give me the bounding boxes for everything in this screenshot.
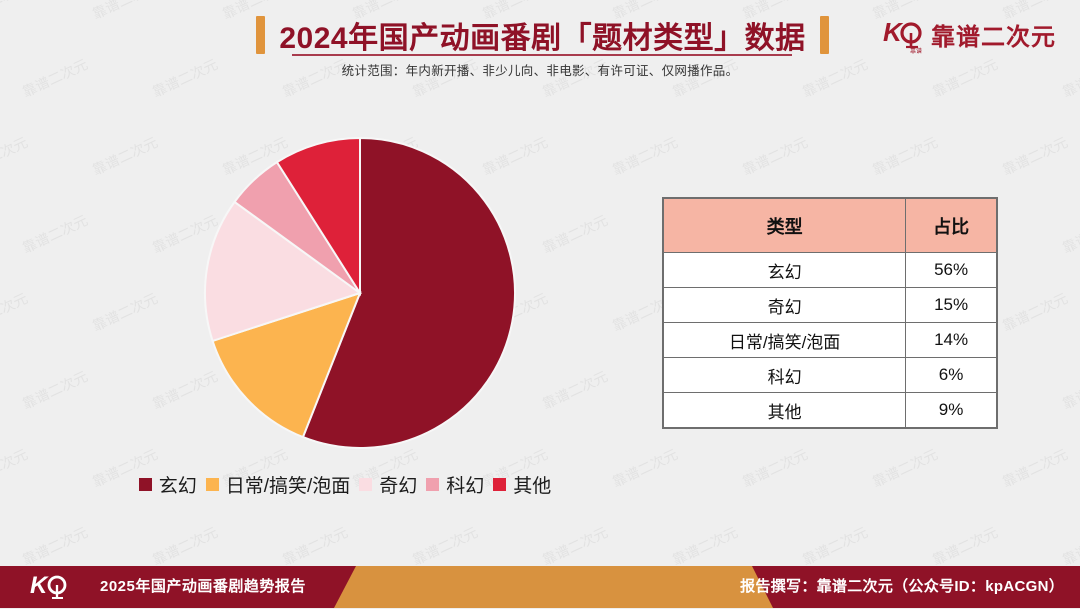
title-accent-bar-right [820, 16, 829, 54]
cell-type: 玄幻 [663, 253, 906, 288]
cell-type: 其他 [663, 393, 906, 429]
legend-label: 玄幻 [159, 471, 197, 498]
column-header-type: 类型 [663, 198, 906, 253]
legend-item: 奇幻 [359, 471, 417, 498]
legend-swatch-icon [493, 478, 506, 491]
legend-swatch-icon [206, 478, 219, 491]
legend-label: 其他 [513, 471, 551, 498]
svg-text:K: K [30, 572, 49, 599]
table-header-row: 类型 占比 [663, 198, 997, 253]
title-underline [292, 54, 792, 56]
table-row: 科幻6% [663, 358, 997, 393]
subtitle: 统计范围：年内新开播、非少儿向、非电影、有许可证、仅网播作品。 [0, 60, 1080, 79]
legend-item: 其他 [493, 471, 551, 498]
cell-share: 15% [906, 288, 997, 323]
column-header-share: 占比 [906, 198, 997, 253]
data-table: 类型 占比 玄幻56%奇幻15%日常/搞笑/泡面14%科幻6%其他9% [662, 197, 998, 429]
cell-share: 14% [906, 323, 997, 358]
kp-logo-icon: K 靠谱 [882, 14, 924, 54]
footer: K 2025年国产动画番剧趋势报告 报告撰写：靠谱二次元（公众号ID：kpACG… [0, 556, 1080, 608]
legend-item: 玄幻 [139, 471, 197, 498]
legend-label: 奇幻 [379, 471, 417, 498]
cell-share: 56% [906, 253, 997, 288]
title-accent-bar-left [256, 16, 265, 54]
cell-share: 9% [906, 393, 997, 429]
pie-slices [205, 138, 515, 448]
cell-type: 奇幻 [663, 288, 906, 323]
footer-report-title: 2025年国产动画番剧趋势报告 [100, 575, 306, 596]
table-row: 日常/搞笑/泡面14% [663, 323, 997, 358]
table-head: 类型 占比 [663, 198, 997, 253]
footer-kp-logo-icon: K [30, 568, 70, 604]
cell-type: 日常/搞笑/泡面 [663, 323, 906, 358]
legend-swatch-icon [426, 478, 439, 491]
legend-swatch-icon [359, 478, 372, 491]
cell-share: 6% [906, 358, 997, 393]
legend-item: 日常/搞笑/泡面 [206, 471, 351, 498]
brand-logo: K 靠谱 靠谱二次元 [882, 14, 1056, 54]
legend-label: 科幻 [446, 471, 484, 498]
title-row: 2024年国产动画番剧「题材类型」数据 [270, 12, 815, 58]
pie-chart [170, 128, 550, 458]
table-row: 其他9% [663, 393, 997, 429]
table-body: 玄幻56%奇幻15%日常/搞笑/泡面14%科幻6%其他9% [663, 253, 997, 429]
legend-swatch-icon [139, 478, 152, 491]
header: 2024年国产动画番剧「题材类型」数据 统计范围：年内新开播、非少儿向、非电影、… [0, 0, 1080, 100]
svg-text:靠谱: 靠谱 [910, 47, 922, 54]
legend-label: 日常/搞笑/泡面 [226, 471, 351, 498]
table-row: 玄幻56% [663, 253, 997, 288]
chart-legend: 玄幻日常/搞笑/泡面奇幻科幻其他 [80, 468, 610, 500]
legend-item: 科幻 [426, 471, 484, 498]
table-row: 奇幻15% [663, 288, 997, 323]
cell-type: 科幻 [663, 358, 906, 393]
page-title: 2024年国产动画番剧「题材类型」数据 [279, 13, 805, 57]
brand-name: 靠谱二次元 [931, 17, 1056, 52]
footer-author-credit: 报告撰写：靠谱二次元（公众号ID：kpACGN） [740, 575, 1064, 596]
